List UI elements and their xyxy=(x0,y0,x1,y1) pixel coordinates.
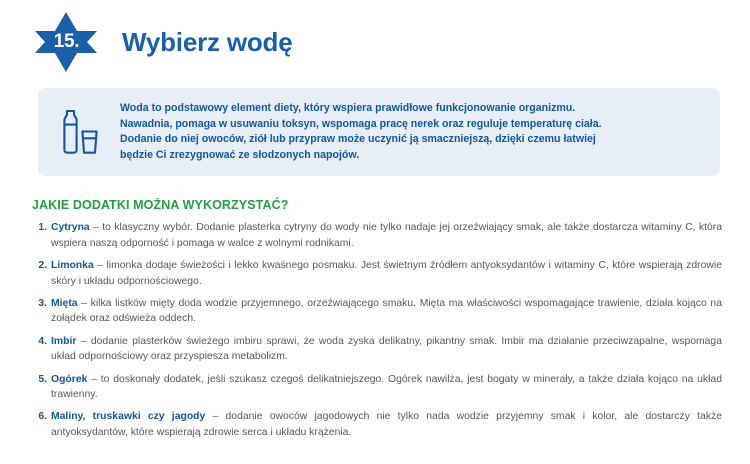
list-item-number: 4. xyxy=(32,334,47,349)
info-line: Dodanie do niej owoców, ziół lub przypra… xyxy=(120,132,602,148)
list-item: 1. Cytryna – to klasyczny wybór. Dodanie… xyxy=(32,220,722,251)
section-heading: JAKIE DODATKI MOŻNA WYKORZYSTAĆ? xyxy=(32,198,750,212)
info-line: Nawadnia, pomaga w usuwaniu toksyn, wspo… xyxy=(120,117,602,133)
step-number-badge: 15. xyxy=(34,11,98,73)
list-item-text: – kilka listków mięty doda wodzie przyje… xyxy=(51,298,722,324)
list-item: 6. Maliny, truskawki czy jagody – dodani… xyxy=(32,409,722,440)
water-bottle-and-glass-icon xyxy=(54,107,106,157)
list-item: 2. Limonka – limonka dodaje świeżości i … xyxy=(32,258,722,289)
list-item-body: Imbir – dodanie plasterków świeżego imbi… xyxy=(51,334,722,365)
list-item-body: Limonka – limonka dodaje świeżości i lek… xyxy=(51,258,722,289)
list-item-text: – limonka dodaje świeżości i lekko kwaśn… xyxy=(51,260,722,286)
list-item-number: 6. xyxy=(32,409,47,424)
list-item: 3. Mięta – kilka listków mięty doda wodz… xyxy=(32,296,722,327)
list-item-text: – to doskonały dodatek, jeśli szukasz cz… xyxy=(51,374,722,400)
list-item-body: Mięta – kilka listków mięty doda wodzie … xyxy=(51,296,722,327)
list-item-term: Cytryna xyxy=(51,222,90,233)
list-item-number: 2. xyxy=(32,258,47,273)
info-callout-box: Woda to podstawowy element diety, który … xyxy=(38,88,720,176)
list-item-body: Maliny, truskawki czy jagody – dodanie o… xyxy=(51,409,722,440)
page-title: Wybierz wodę xyxy=(122,27,293,58)
list-item-term: Mięta xyxy=(51,298,78,309)
tips-list: 1. Cytryna – to klasyczny wybór. Dodanie… xyxy=(32,220,722,440)
list-item: 5. Ogórek – to doskonały dodatek, jeśli … xyxy=(32,372,722,403)
list-item-term: Limonka xyxy=(51,260,94,271)
step-number-label: 15. xyxy=(34,11,98,73)
list-item-term: Imbir xyxy=(51,336,76,347)
list-item-number: 1. xyxy=(32,220,47,235)
list-item-body: Ogórek – to doskonały dodatek, jeśli szu… xyxy=(51,372,722,403)
list-item-text: – dodanie plasterków świeżego imbiru spr… xyxy=(51,336,722,362)
list-item-number: 3. xyxy=(32,296,47,311)
info-line: Woda to podstawowy element diety, który … xyxy=(120,101,602,117)
info-callout-text: Woda to podstawowy element diety, który … xyxy=(120,101,602,163)
page-header: 15. Wybierz wodę xyxy=(0,0,750,72)
list-item-text: – to klasyczny wybór. Dodanie plasterka … xyxy=(51,222,722,248)
list-item: 4. Imbir – dodanie plasterków świeżego i… xyxy=(32,334,722,365)
list-item-body: Cytryna – to klasyczny wybór. Dodanie pl… xyxy=(51,220,722,251)
list-item-number: 5. xyxy=(32,372,47,387)
list-item-term: Maliny, truskawki czy jagody xyxy=(51,411,205,422)
list-item-term: Ogórek xyxy=(51,374,87,385)
info-line: będzie Ci zrezygnować ze słodzonych napo… xyxy=(120,148,602,164)
